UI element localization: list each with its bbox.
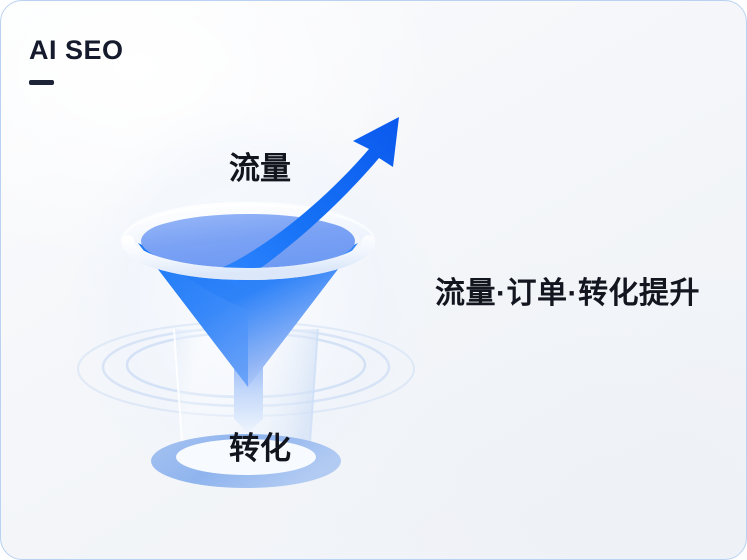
headline-text: 流量·订单·转化提升 (435, 277, 700, 310)
funnel-illustration: 流量 转化 (111, 101, 441, 521)
slide-canvas: AI SEO 流量·订单·转化提升 (0, 0, 747, 560)
label-traffic: 流量 (229, 153, 291, 184)
brand-underline (29, 80, 54, 85)
label-conversion: 转化 (229, 433, 291, 464)
brand-title: AI SEO (29, 37, 124, 64)
brand-block: AI SEO (29, 37, 124, 85)
